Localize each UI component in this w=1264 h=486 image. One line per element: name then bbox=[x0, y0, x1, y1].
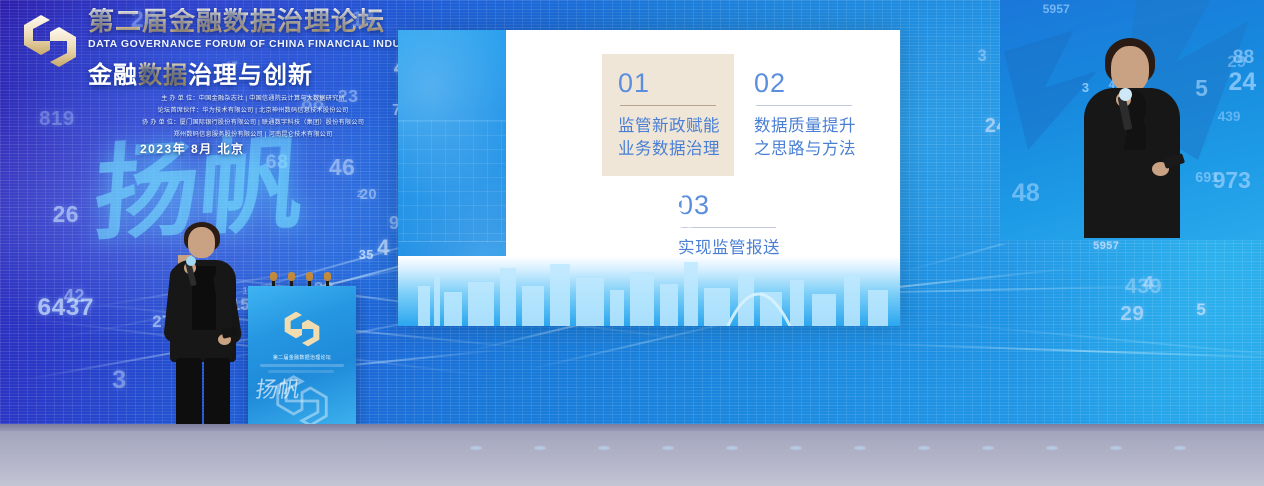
floor-light bbox=[1174, 446, 1186, 450]
toc-item-01-line1: 监管新政赋能 bbox=[618, 115, 720, 138]
floor-light bbox=[854, 446, 866, 450]
event-title-en: DATA GOVERNANCE FORUM OF CHINA FINANCIAL… bbox=[88, 38, 408, 50]
feed-number: 48 bbox=[1012, 179, 1040, 208]
broadcast-camera-feed: 43924588783294691595797348 bbox=[1000, 0, 1264, 240]
toc-title-cn: 目录 bbox=[601, 178, 696, 218]
event-subtitle-cn: 金融数据治理与创新 bbox=[88, 55, 408, 90]
lectern-front-panel: 第二届金融数据治理论坛 扬帆 bbox=[248, 286, 356, 446]
toc-item-02-line1: 数据质量提升 bbox=[754, 115, 856, 138]
backdrop-number: 20 bbox=[360, 187, 377, 203]
toc-item-01-number: 01 bbox=[618, 70, 720, 97]
organizer-line-2: 论坛首席伙伴：华为技术有限公司 | 北京神州数码信息技术股份公司 bbox=[98, 105, 408, 117]
floor-light bbox=[470, 446, 482, 450]
floor-light bbox=[534, 446, 546, 450]
backdrop-number: 5957 bbox=[1093, 240, 1119, 252]
floor-light bbox=[662, 446, 674, 450]
floor-light bbox=[1046, 446, 1058, 450]
stage-microphone-head-icon bbox=[186, 256, 196, 266]
toc-item-02-number: 02 bbox=[754, 70, 856, 97]
feed-number: 29 bbox=[1227, 52, 1246, 72]
lectern-mic-3-head-icon bbox=[306, 272, 313, 281]
subtitle-part-2: 治理与创新 bbox=[188, 62, 313, 89]
toc-item-01-line2: 业务数据治理 bbox=[618, 138, 720, 161]
projected-slide: 目录 CONTENTS 01 监管新政赋能 业务数据治理 02 数据质量提升 之… bbox=[398, 30, 900, 326]
skyline-buildings-icon bbox=[398, 256, 900, 326]
floor-light bbox=[790, 446, 802, 450]
organizer-list: 主 办 单 位：中国金融杂志社 | 中国信通院云计算与大数据研究所论坛首席伙伴：… bbox=[98, 93, 408, 141]
event-date-location: 2023年 8月 北京 bbox=[140, 140, 245, 157]
feed-number: 973 bbox=[1213, 167, 1251, 194]
floor-light bbox=[726, 446, 738, 450]
backdrop-number: 29 bbox=[1120, 302, 1144, 326]
backdrop-number: 42 bbox=[64, 286, 85, 307]
stage-floor bbox=[0, 424, 1264, 486]
feed-speaker-figure bbox=[1078, 38, 1188, 238]
organizer-line-1: 主 办 单 位：中国金融杂志社 | 中国信通院云计算与大数据研究所 bbox=[98, 93, 408, 105]
event-key-visual: 第二届金融数据治理论坛 DATA GOVERNANCE FORUM OF CHI… bbox=[0, 0, 420, 168]
slide-skyline-band bbox=[398, 256, 900, 326]
feed-number: 439 bbox=[1218, 109, 1241, 124]
slide-panel-grid bbox=[398, 120, 506, 242]
hexagon-knot-logo-icon bbox=[20, 10, 80, 72]
backdrop-number: 3 bbox=[112, 366, 127, 395]
lectern-mic-4-head-icon bbox=[324, 272, 331, 281]
toc-item-01-rule bbox=[620, 105, 716, 106]
lectern-mic-1-head-icon bbox=[270, 272, 277, 281]
stage-speaker-inner-top bbox=[192, 266, 216, 330]
backdrop-number: 3 bbox=[978, 47, 988, 66]
backdrop-number: 26 bbox=[53, 201, 79, 228]
floor-light bbox=[918, 446, 930, 450]
feed-number: 24 bbox=[1229, 69, 1257, 97]
lectern-title-text: 第二届金融数据治理论坛 bbox=[258, 354, 346, 361]
feed-microphone-head-icon bbox=[1119, 88, 1132, 101]
backdrop-number: 35 bbox=[359, 248, 374, 262]
stage-speaker-head bbox=[188, 227, 215, 258]
backdrop-number: 4 bbox=[377, 235, 390, 261]
backdrop-number: 4 bbox=[1143, 272, 1154, 294]
feed-number: 5 bbox=[1195, 75, 1208, 102]
toc-item-02: 02 数据质量提升 之思路与方法 bbox=[754, 70, 856, 162]
organizer-line-3: 协 办 单 位：厦门国际银行股份有限公司 | 联通数字科技（集团）股份有限公司 bbox=[98, 117, 408, 129]
event-branding: 第二届金融数据治理论坛 DATA GOVERNANCE FORUM OF CHI… bbox=[88, 8, 408, 90]
lectern-deco-line-1 bbox=[260, 364, 344, 367]
floor-light bbox=[982, 446, 994, 450]
toc-title-en: CONTENTS bbox=[601, 225, 696, 240]
floor-light bbox=[598, 446, 610, 450]
slide-toc-title: 目录 CONTENTS bbox=[601, 178, 696, 240]
toc-item-02-line2: 之思路与方法 bbox=[754, 138, 856, 161]
lectern-mic-2-head-icon bbox=[288, 272, 295, 281]
lectern-logo-watermark-icon bbox=[274, 372, 330, 430]
floor-light bbox=[1110, 446, 1122, 450]
feed-speaker-head bbox=[1111, 46, 1149, 92]
backdrop-number: 5 bbox=[1196, 300, 1206, 320]
lectern-logo-icon bbox=[282, 308, 322, 350]
subtitle-highlight: 数据 bbox=[138, 62, 188, 89]
stage-photo: 8196437176823154202612297464293547244674… bbox=[0, 0, 1264, 486]
event-title-cn: 第二届金融数据治理论坛 bbox=[88, 8, 408, 35]
toc-item-02-rule bbox=[756, 105, 852, 106]
feed-number: 5957 bbox=[1043, 2, 1070, 16]
stage-floor-edge bbox=[0, 424, 1264, 431]
subtitle-part-1: 金融 bbox=[88, 62, 138, 89]
toc-item-01: 01 监管新政赋能 业务数据治理 bbox=[602, 54, 734, 176]
